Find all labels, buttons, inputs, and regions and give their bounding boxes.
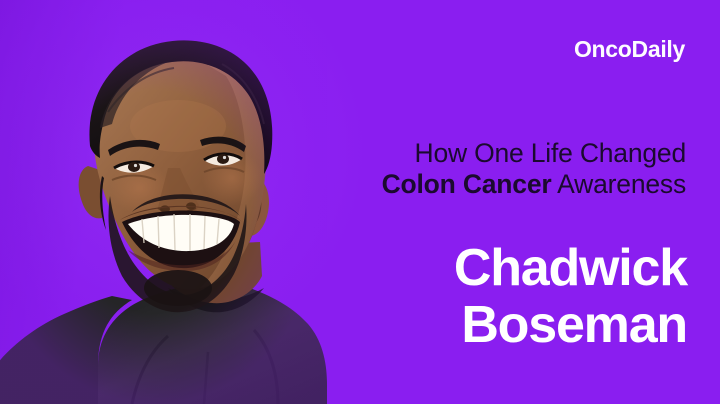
video-thumbnail: OncoDaily How One Life Changed Colon Can… bbox=[0, 0, 720, 404]
subtitle-line-2-rest: Awareness bbox=[551, 169, 686, 199]
headline-line-2: Boseman bbox=[267, 297, 687, 354]
subtitle-highlight: Colon Cancer bbox=[382, 169, 552, 199]
subtitle-line-2: Colon Cancer Awareness bbox=[286, 169, 686, 200]
headline-line-1: Chadwick bbox=[267, 240, 687, 297]
headline-block: Chadwick Boseman bbox=[267, 240, 687, 354]
subtitle-line-1: How One Life Changed bbox=[286, 138, 686, 169]
subtitle-block: How One Life Changed Colon Cancer Awaren… bbox=[286, 138, 686, 200]
oncodaily-logo[interactable]: OncoDaily bbox=[574, 38, 685, 61]
